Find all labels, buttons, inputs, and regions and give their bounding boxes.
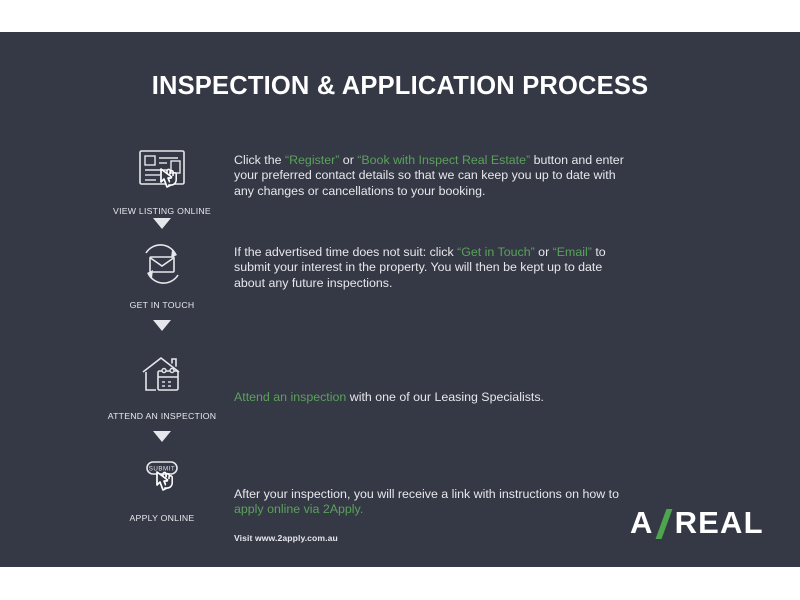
step-2-icon-column: GET IN TOUCH <box>88 239 236 310</box>
step-3-text-1: with one of our Leasing Specialists. <box>346 390 544 404</box>
step-4-label: APPLY ONLINE <box>88 513 236 523</box>
step-2-text-1: “Get in Touch” <box>457 245 535 259</box>
step-1-body: Click the “Register” or “Book with Inspe… <box>234 153 634 199</box>
step-1-text-2: or <box>339 153 357 167</box>
step-2-label: GET IN TOUCH <box>88 300 236 310</box>
slide-canvas: INSPECTION & APPLICATION PROCESS <box>0 32 800 567</box>
connector-arrow-3 <box>153 431 171 442</box>
step-4-text-1: apply online via 2Apply. <box>234 502 363 516</box>
logo-word-real: REAL <box>675 505 764 541</box>
step-1-text-0: Click the <box>234 153 285 167</box>
step-3-text-0: Attend an inspection <box>234 390 346 404</box>
house-calendar-icon <box>88 350 236 402</box>
step-4-icon-column: SUBMIT APPLY ONLINE <box>88 452 236 523</box>
visit-url-line: Visit www.2apply.com.au <box>234 531 634 546</box>
logo-slash-icon <box>656 508 673 539</box>
step-3-icon-column: ATTEND AN INSPECTION <box>88 350 236 421</box>
step-4-body: After your inspection, you will receive … <box>234 487 634 546</box>
svg-text:SUBMIT: SUBMIT <box>149 466 175 473</box>
step-1-text-1: “Register” <box>285 153 339 167</box>
listing-cursor-icon <box>88 145 236 197</box>
page-title: INSPECTION & APPLICATION PROCESS <box>0 72 800 101</box>
step-2-body: If the advertised time does not suit: cl… <box>234 245 634 291</box>
connector-arrow-2 <box>153 320 171 331</box>
connector-arrow-1 <box>153 218 171 229</box>
step-1-icon-column: VIEW LISTING ONLINE <box>88 145 236 216</box>
brand-logo: A REAL <box>630 505 764 541</box>
step-2-text-3: “Email” <box>553 245 592 259</box>
step-1-text-3: “Book with Inspect Real Estate” <box>357 153 530 167</box>
step-4-text-0: After your inspection, you will receive … <box>234 487 619 501</box>
submit-button-cursor-icon: SUBMIT <box>88 452 236 504</box>
step-1-label: VIEW LISTING ONLINE <box>88 206 236 216</box>
envelope-refresh-icon <box>88 239 236 291</box>
logo-letter-a: A <box>630 505 654 541</box>
step-3-label: ATTEND AN INSPECTION <box>88 411 236 421</box>
step-3-body: Attend an inspection with one of our Lea… <box>234 390 634 405</box>
step-4-paragraph: After your inspection, you will receive … <box>234 487 634 518</box>
step-2-text-2: or <box>535 245 553 259</box>
step-2-text-0: If the advertised time does not suit: cl… <box>234 245 457 259</box>
